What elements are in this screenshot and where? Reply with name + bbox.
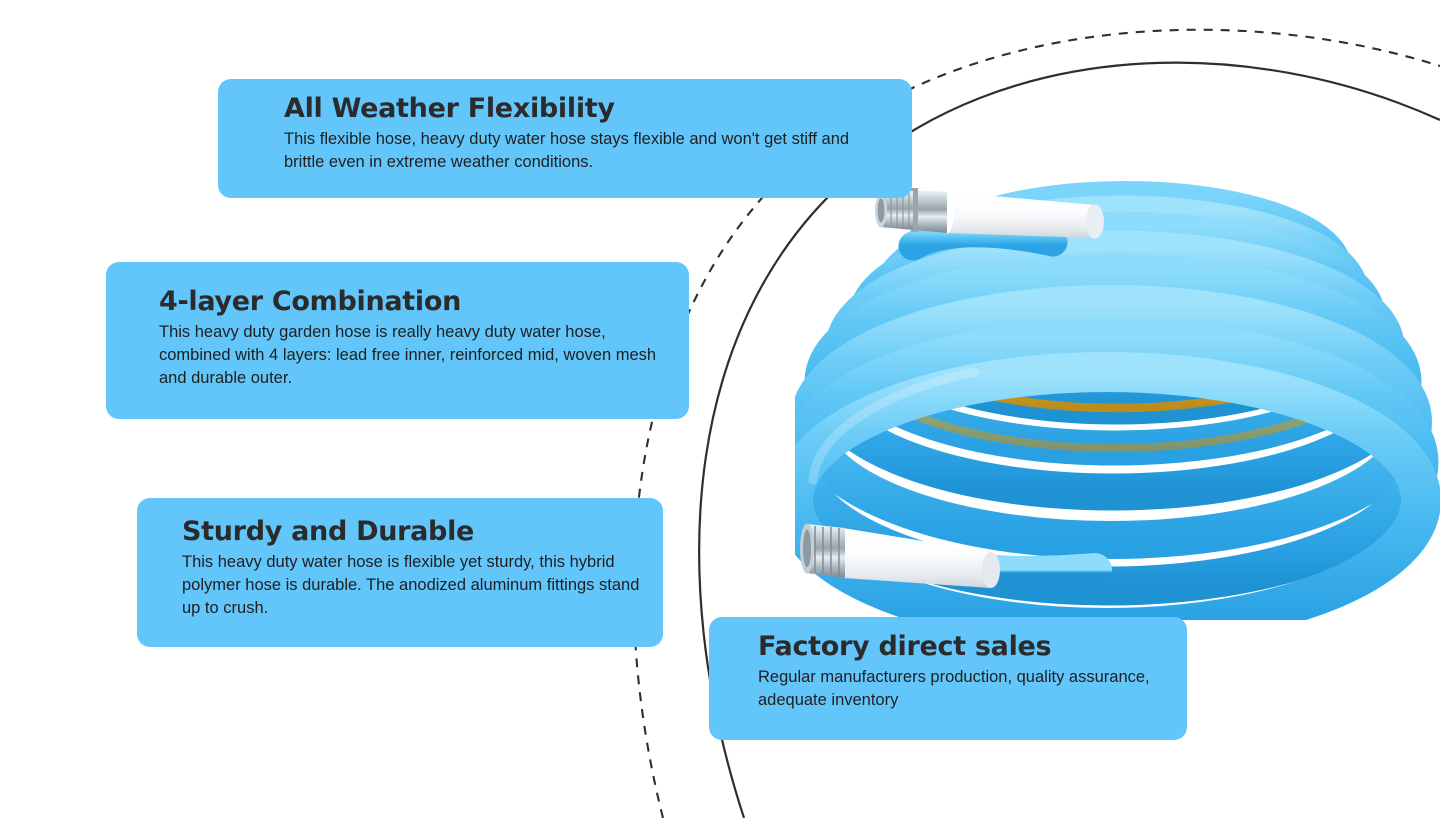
- infographic-canvas: All Weather Flexibility This flexible ho…: [0, 0, 1440, 818]
- feature-card-title: Sturdy and Durable: [182, 516, 641, 548]
- feature-card-sturdy-durable: Sturdy and Durable This heavy duty water…: [137, 498, 663, 647]
- feature-card-four-layer: 4-layer Combination This heavy duty gard…: [106, 262, 689, 419]
- product-image-hose-coil: [795, 150, 1440, 620]
- feature-card-body: Regular manufacturers production, qualit…: [758, 666, 1165, 712]
- feature-card-title: Factory direct sales: [758, 631, 1165, 663]
- feature-card-all-weather: All Weather Flexibility This flexible ho…: [218, 79, 912, 198]
- feature-card-body: This flexible hose, heavy duty water hos…: [284, 128, 890, 174]
- feature-card-body: This heavy duty garden hose is really he…: [159, 321, 667, 390]
- feature-card-title: All Weather Flexibility: [284, 93, 890, 125]
- feature-card-factory-direct: Factory direct sales Regular manufacture…: [709, 617, 1187, 740]
- feature-card-body: This heavy duty water hose is flexible y…: [182, 551, 641, 620]
- feature-card-title: 4-layer Combination: [159, 286, 667, 318]
